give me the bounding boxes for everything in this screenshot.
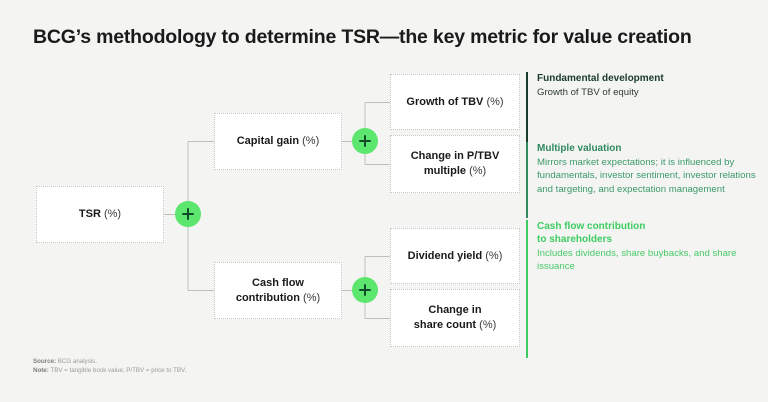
node-cash-flow-contribution[interactable]: Cash flowcontribution (%): [214, 262, 342, 319]
node-change-in-share-count-label: Change inshare count: [414, 304, 482, 331]
annotation-body: Mirrors market expectations; it is influ…: [537, 156, 762, 196]
footnote-note-line: Note: TBV = tangible book value; P/TBV =…: [33, 366, 186, 375]
node-cash-flow-contribution-label: Cash flowcontribution: [236, 277, 304, 304]
annotation-heading: Multiple valuation: [537, 142, 762, 155]
accent-bar-cash-flow-contribution: [526, 220, 528, 358]
annotation-multiple-valuation: Multiple valuation Mirrors market expect…: [526, 142, 762, 218]
node-dividend-yield-label: Dividend yield: [408, 250, 483, 262]
node-growth-of-tbv-unit: (%): [486, 96, 503, 108]
footnote-source-text: BCG analysis.: [58, 358, 97, 365]
plus-icon-cash-flow-split[interactable]: [352, 277, 378, 303]
accent-bar-multiple-valuation: [526, 142, 528, 218]
node-growth-of-tbv[interactable]: Growth of TBV (%): [390, 74, 520, 130]
node-change-in-p-tbv-multiple[interactable]: Change in P/TBVmultiple (%): [390, 135, 520, 193]
node-change-in-share-count[interactable]: Change inshare count (%): [390, 289, 520, 347]
annotation-body: Includes dividends, share buybacks, and …: [537, 247, 754, 274]
node-dividend-yield[interactable]: Dividend yield (%): [390, 228, 520, 284]
node-capital-gain-label: Capital gain: [237, 135, 299, 147]
footnote-note-text: TBV = tangible book value; P/TBV = price…: [50, 367, 186, 374]
annotation-cash-flow-contribution: Cash flow contributionto shareholders In…: [526, 220, 754, 358]
node-dividend-yield-unit: (%): [485, 250, 502, 262]
node-change-in-p-tbv-multiple-unit: (%): [469, 165, 486, 177]
node-tsr-label: TSR: [79, 208, 101, 220]
node-tsr-unit: (%): [104, 208, 121, 220]
footnote: Source: BCG analysis. Note: TBV = tangib…: [33, 357, 186, 376]
slide-canvas: BCG’s methodology to determine TSR—the k…: [0, 0, 768, 402]
annotation-heading: Cash flow contributionto shareholders: [537, 220, 754, 246]
node-capital-gain-unit: (%): [302, 135, 319, 147]
plus-icon-tsr-split[interactable]: [175, 201, 201, 227]
node-cash-flow-contribution-unit: (%): [303, 292, 320, 304]
node-change-in-share-count-unit: (%): [479, 319, 496, 331]
node-tsr[interactable]: TSR (%): [36, 186, 164, 243]
annotation-body: Growth of TBV of equity: [537, 86, 754, 99]
plus-icon-capital-gain-split[interactable]: [352, 128, 378, 154]
node-capital-gain[interactable]: Capital gain (%): [214, 113, 342, 170]
page-title: BCG’s methodology to determine TSR—the k…: [33, 24, 733, 50]
footnote-source-label: Source:: [33, 358, 56, 365]
annotation-heading: Fundamental development: [537, 72, 754, 85]
node-growth-of-tbv-label: Growth of TBV: [406, 96, 483, 108]
footnote-note-label: Note:: [33, 367, 49, 374]
footnote-source-line: Source: BCG analysis.: [33, 357, 186, 366]
